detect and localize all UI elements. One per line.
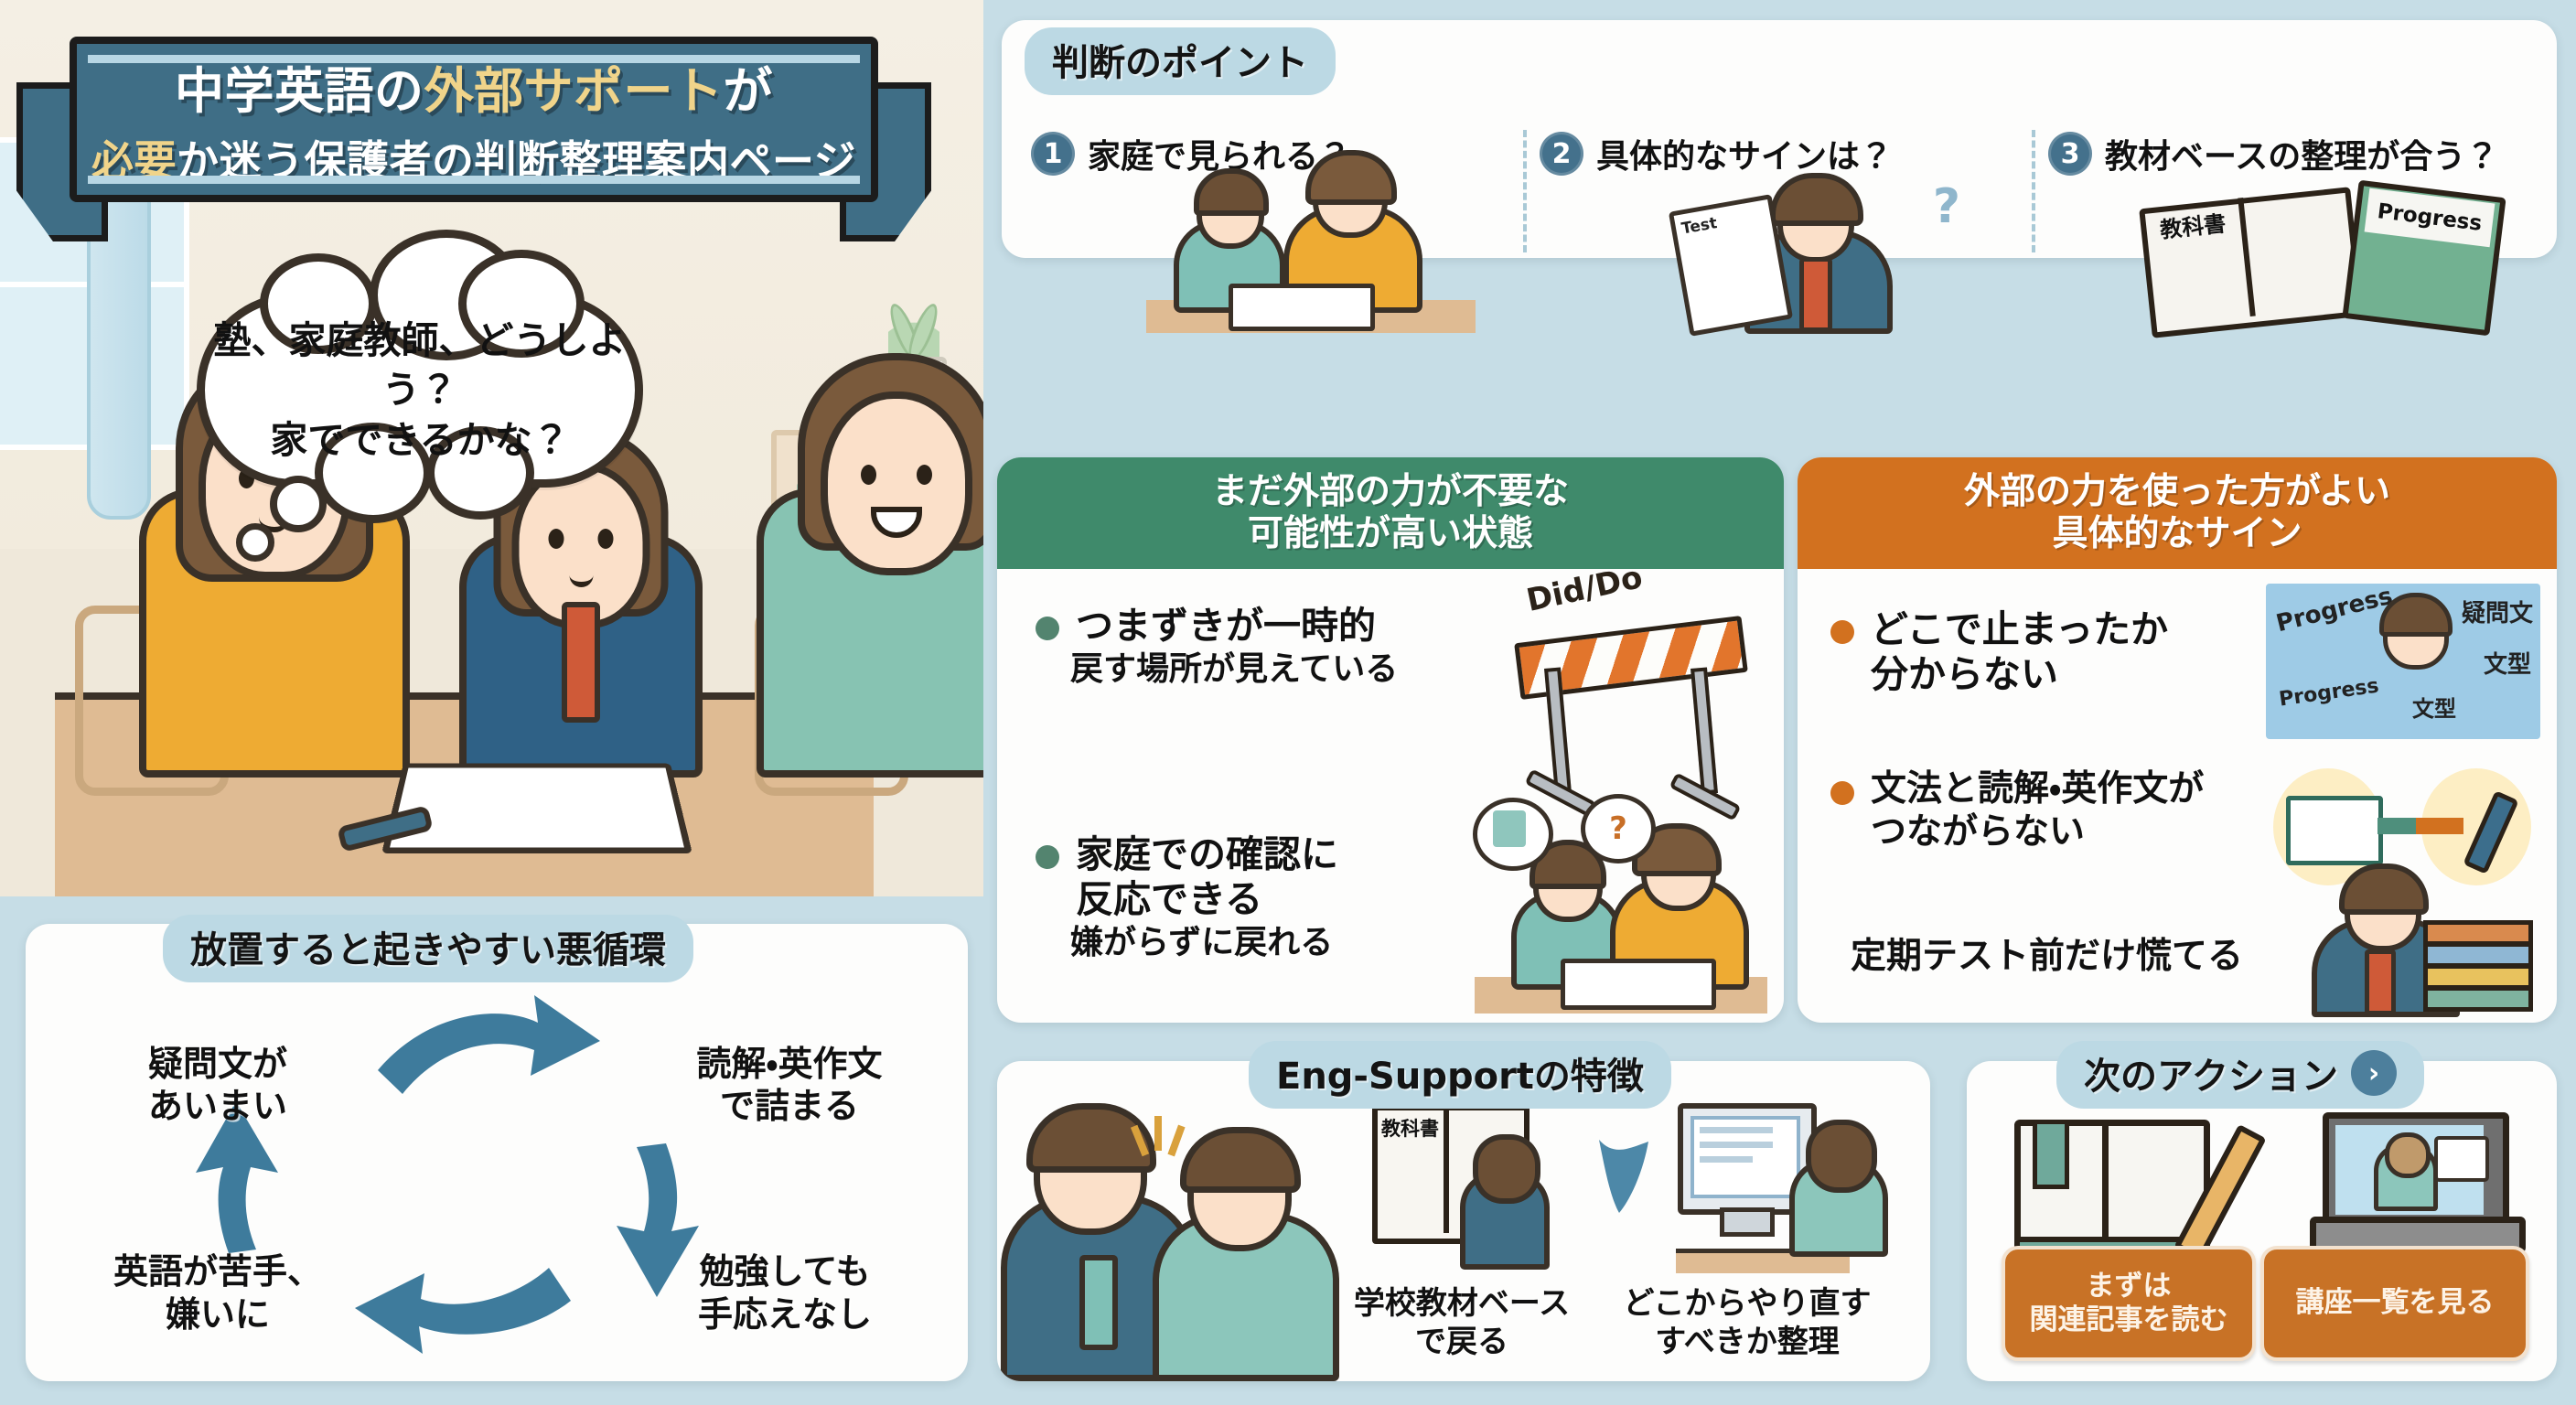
orange-bullet-dot-1	[1830, 620, 1854, 644]
progress-label-bottom: Progress	[2278, 674, 2380, 711]
eng-support-features-card: 教科書 学校教材ベース で戻る どこからやり直す すべきか整理	[997, 1061, 1930, 1381]
green-bullet-1-sub: 戻す場所が見えている	[1070, 649, 1398, 690]
cycle-node-4-line2: 嫌いに	[71, 1293, 364, 1335]
cycle-node-2-line2: で詰まる	[639, 1085, 940, 1127]
feature-2-line2: すべきか整理	[1587, 1324, 1907, 1361]
cycle-node-top-right: 読解・英作文 で詰まる	[639, 1043, 940, 1128]
green-bullet-2-main2: 反応できる	[1076, 877, 1338, 922]
feature-1-caption: 学校教材ベース で戻る	[1343, 1285, 1581, 1361]
necktie-icon	[562, 602, 600, 723]
next-action-pill-label: 次のアクション	[2084, 1046, 2338, 1099]
progress-label-top: Progress	[2273, 584, 2395, 638]
feature-2-line1: どこからやり直す	[1587, 1285, 1907, 1323]
infographic-root: 塾、家庭教師、どうしよう？ 家でできるかな？ 中学英語の外部サポートが 必要か迷…	[0, 0, 2576, 1405]
orange-bullet-1-text: どこで止まったか 分からない	[1871, 607, 2168, 697]
title-highlight-a: 外部サポート	[424, 62, 724, 120]
page-title-line-1: 中学英語の外部サポートが	[175, 50, 773, 123]
thought-bubble: 塾、家庭教師、どうしよう？ 家でできるかな？	[197, 293, 643, 488]
green-bullet-2-main: 家庭での確認に	[1076, 832, 1338, 877]
road-barrier-illustration: Did/Do	[1508, 576, 1755, 805]
textbook-and-progress-book-illustration: 教科書 Progress	[2136, 181, 2502, 327]
feature-1-line2: で戻る	[1343, 1324, 1581, 1361]
parent-child-studying-illustration	[1110, 187, 1494, 333]
cycle-node-1-line2: あいまい	[80, 1085, 355, 1127]
point-2-label: 具体的なサインは？	[1596, 130, 1893, 177]
cta-1-line2: 関連記事を読む	[2030, 1303, 2228, 1337]
page-title-banner: 中学英語の外部サポートが 必要か迷う保護者の判断整理案内ページ	[16, 37, 931, 224]
orange-bullet-2-main2: つながらない	[1871, 811, 2204, 854]
title-highlight-b: 必要	[91, 136, 177, 186]
green-bullet-dot-1	[1036, 617, 1059, 640]
father-figure	[759, 348, 983, 778]
green-bullet-1-main: つまずきが一時的	[1076, 604, 1398, 649]
feature-1-line1: 学校教材ベース	[1343, 1285, 1581, 1323]
orange-bullet-1: どこで止まったか 分からない	[1830, 607, 2168, 697]
sentence-pattern-label-2: 文型	[2412, 691, 2456, 723]
judgement-points-pill-label: 判断のポイント	[1052, 33, 1308, 86]
orange-bullet-1-main: どこで止まったか	[1871, 607, 2168, 652]
green-bullet-1-text: つまずきが一時的 戻す場所が見えている	[1076, 604, 1398, 690]
point-3-label: 教材ベースの整理が合う？	[2105, 130, 2498, 177]
thought-line-2: 家でできるかな？	[270, 415, 569, 465]
panicking-student-illustration	[2273, 857, 2538, 1017]
points-columns: 1 家庭で見られる？ 2 具体的なサインは？	[1018, 130, 2540, 252]
cycle-node-4-line1: 英語が苦手、	[71, 1250, 364, 1292]
cycle-node-1-line1: 疑問文が	[80, 1043, 355, 1085]
textbook-cover-label: 教科書	[1381, 1114, 1439, 1142]
down-arrow-icon	[1583, 1136, 1665, 1218]
banner-body: 中学英語の外部サポートが 必要か迷う保護者の判断整理案内ページ	[70, 37, 878, 202]
sentence-pattern-label-1: 文型	[2484, 646, 2531, 680]
judgement-points-pill: 判断のポイント	[1025, 27, 1336, 95]
point-1-header: 1 家庭で見られる？	[1031, 130, 1510, 177]
point-column-1: 1 家庭で見られる？	[1018, 130, 1523, 252]
student-with-test-paper-illustration: Test ?	[1664, 183, 1966, 334]
green-bullet-2-text: 家庭での確認に 反応できる 嫌がらずに戻れる	[1076, 832, 1338, 963]
orange-header-line-1: 外部の力を使った方がよい	[1964, 471, 2390, 513]
cycle-node-2-line1: 読解・英作文	[639, 1043, 940, 1085]
orange-header-line-2: 具体的なサイン	[2052, 513, 2302, 555]
orange-bullet-2-main: 文法と読解・英作文が	[1871, 768, 2204, 811]
orange-bullet-dot-2	[1830, 781, 1854, 805]
point-1-number: 1	[1031, 132, 1075, 176]
green-bullet-1: つまずきが一時的 戻す場所が見えている	[1036, 604, 1398, 690]
cta-1-line1: まずは	[2087, 1270, 2172, 1303]
page-title-line-2: 必要か迷う保護者の判断整理案内ページ	[91, 128, 856, 188]
cta-2-line1: 講座一覧を見る	[2296, 1286, 2495, 1320]
read-related-articles-button[interactable]: まずは 関連記事を読む	[2002, 1246, 2256, 1361]
cycle-node-bottom-right: 勉強しても 手応えなし	[639, 1250, 931, 1335]
textbook-reading-illustration: 教科書	[1363, 1105, 1555, 1270]
orange-extra-line: 定期テスト前だけ慌てる	[1851, 936, 2243, 979]
point-2-number: 2	[1540, 132, 1583, 176]
eng-support-pill-label: Eng-Supportの特徴	[1276, 1046, 1644, 1099]
next-action-card: まずは 関連記事を読む 講座一覧を見る	[1967, 1061, 2557, 1381]
laptop-lecture-icon	[2310, 1112, 2520, 1259]
point-3-number: 3	[2048, 132, 2092, 176]
green-bullet-2: 家庭での確認に 反応できる 嫌がらずに戻れる	[1036, 832, 1338, 963]
open-book-icon	[381, 764, 692, 853]
title-part-c: が	[724, 62, 774, 120]
feature-2-caption: どこからやり直す すべきか整理	[1587, 1285, 1907, 1361]
green-panel-body: つまずきが一時的 戻す場所が見えている 家庭での確認に 反応できる 嫌がらずに戻…	[997, 569, 1784, 1023]
green-bullet-dot-2	[1036, 845, 1059, 869]
open-book-with-pencil-icon	[2014, 1120, 2216, 1257]
textbook-label: 教科書	[2158, 205, 2227, 243]
point-column-2: 2 具体的なサインは？ Test ?	[1523, 130, 2032, 252]
green-header-line-2: 可能性が高い状態	[1248, 513, 1533, 555]
next-action-pill: 次のアクション ›	[2056, 1041, 2424, 1109]
question-form-label: 疑問文	[2462, 595, 2533, 628]
thought-tail-large	[270, 476, 327, 532]
point-3-header: 3 教材ベースの整理が合う？	[2048, 130, 2528, 177]
title-part-a: 中学英語の	[175, 62, 424, 120]
title-part-d: か迷う保護者の判断整理案内ページ	[177, 136, 856, 186]
vicious-cycle-pill-label: 放置すると起きやすい悪循環	[190, 920, 666, 973]
vicious-cycle-card: 疑問文が あいまい 読解・英作文 で詰まる 勉強しても 手応えなし 英語が苦手、…	[26, 924, 968, 1381]
orange-bullet-1-main2: 分からない	[1871, 652, 2168, 697]
green-bullet-2-sub: 嫌がらずに戻れる	[1070, 922, 1338, 963]
home-check-illustration: ?	[1465, 794, 1767, 1014]
no-external-support-panel: まだ外部の力が不要な 可能性が高い状態 つまずきが一時的 戻す場所が見えている …	[997, 457, 1784, 1023]
cycle-node-3-line2: 手応えなし	[639, 1293, 931, 1335]
view-course-list-button[interactable]: 講座一覧を見る	[2260, 1246, 2529, 1361]
orange-bullet-2: 文法と読解・英作文が つながらない	[1830, 768, 2204, 854]
chevron-right-icon[interactable]: ›	[2351, 1050, 2397, 1096]
point-2-header: 2 具体的なサインは？	[1540, 130, 2019, 177]
cycle-node-bottom-left: 英語が苦手、 嫌いに	[71, 1250, 364, 1335]
orange-bullet-2-text: 文法と読解・英作文が つながらない	[1871, 768, 2204, 854]
eng-support-pill: Eng-Supportの特徴	[1249, 1041, 1671, 1109]
green-header-line-1: まだ外部の力が不要な	[1212, 471, 1569, 513]
green-panel-header: まだ外部の力が不要な 可能性が高い状態	[997, 457, 1784, 569]
point-column-3: 3 教材ベースの整理が合う？ 教科書 Progress	[2032, 130, 2540, 252]
external-support-needed-panel: 外部の力を使った方がよい 具体的なサイン どこで止まったか 分からない 文法と読…	[1798, 457, 2557, 1023]
cycle-node-3-line1: 勉強しても	[639, 1250, 931, 1292]
thought-tail-small	[236, 523, 274, 562]
vicious-cycle-pill: 放置すると起きやすい悪循環	[163, 915, 693, 982]
orange-panel-header: 外部の力を使った方がよい 具体的なサイン	[1798, 457, 2557, 569]
cycle-node-top-left: 疑問文が あいまい	[80, 1043, 355, 1128]
orange-panel-body: どこで止まったか 分からない 文法と読解・英作文が つながらない 定期テスト前だ…	[1798, 569, 2557, 1023]
thought-line-1: 塾、家庭教師、どうしよう？	[205, 316, 635, 414]
pc-learning-illustration	[1674, 1103, 1894, 1273]
teacher-and-student-illustration	[997, 1107, 1336, 1381]
drowning-in-progress-illustration: Progress Progress 疑問文 文型 文型	[2266, 584, 2540, 739]
